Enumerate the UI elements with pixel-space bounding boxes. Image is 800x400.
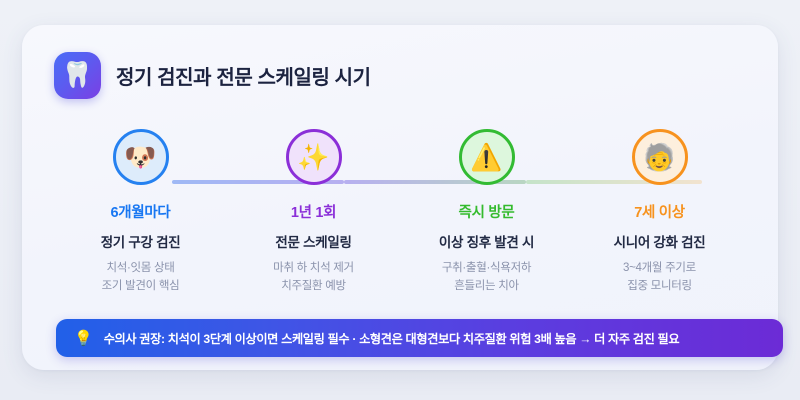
node-title: 시니어 강화 검진 — [614, 231, 706, 251]
sparkles-icon: ✨ — [286, 129, 342, 185]
node-title: 정기 구강 검진 — [101, 231, 181, 251]
node-desc: 치석·잇몸 상태 조기 발견이 핵심 — [102, 259, 180, 295]
card-header: 🦷 정기 검진과 전문 스케일링 시기 — [54, 52, 371, 99]
node-period: 즉시 방문 — [459, 201, 515, 222]
warning-icon: ⚠️ — [459, 129, 515, 185]
page-title: 정기 검진과 전문 스케일링 시기 — [116, 61, 371, 90]
timeline-nodes: 🐶 6개월마다 정기 구강 검진 치석·잇몸 상태 조기 발견이 핵심 ✨ 1년… — [54, 129, 746, 295]
node-period: 1년 1회 — [291, 201, 336, 222]
node-title: 이상 징후 발견 시 — [439, 231, 534, 251]
lightbulb-icon: 💡 — [74, 331, 93, 346]
node-desc: 마취 하 치석 제거 치주질환 예방 — [273, 259, 354, 295]
timeline-node-senior-intensive[interactable]: 🧓 7세 이상 시니어 강화 검진 3~4개월 주기로 집중 모니터링 — [573, 129, 746, 295]
node-desc-line2: 집중 모니터링 — [623, 277, 696, 295]
node-desc: 3~4개월 주기로 집중 모니터링 — [623, 259, 696, 295]
node-period: 6개월마다 — [111, 201, 171, 222]
node-desc-line1: 마취 하 치석 제거 — [273, 259, 354, 277]
node-desc-line2: 흔들리는 치아 — [442, 277, 531, 295]
node-desc-line1: 3~4개월 주기로 — [623, 259, 696, 277]
timeline-node-routine-checkup[interactable]: 🐶 6개월마다 정기 구강 검진 치석·잇몸 상태 조기 발견이 핵심 — [54, 129, 227, 295]
tooth-icon: 🦷 — [54, 52, 101, 99]
recommendation-banner: 💡 수의사 권장: 치석이 3단계 이상이면 스케일링 필수 · 소형견은 대형… — [56, 319, 783, 357]
node-desc-line2: 조기 발견이 핵심 — [102, 277, 180, 295]
node-desc: 구취·출혈·식욕저하 흔들리는 치아 — [442, 259, 531, 295]
info-card: 🦷 정기 검진과 전문 스케일링 시기 🐶 6개월마다 정기 구강 검진 치석·… — [22, 25, 778, 370]
older-person-icon: 🧓 — [632, 129, 688, 185]
timeline-node-professional-scaling[interactable]: ✨ 1년 1회 전문 스케일링 마취 하 치석 제거 치주질환 예방 — [227, 129, 400, 295]
node-period: 7세 이상 — [634, 201, 685, 222]
checkup-timeline: 🐶 6개월마다 정기 구강 검진 치석·잇몸 상태 조기 발견이 핵심 ✨ 1년… — [54, 129, 746, 299]
node-desc-line2: 치주질환 예방 — [273, 277, 354, 295]
node-desc-line1: 구취·출혈·식욕저하 — [442, 259, 531, 277]
recommendation-text: 수의사 권장: 치석이 3단계 이상이면 스케일링 필수 · 소형견은 대형견보… — [104, 329, 680, 347]
dog-face-icon: 🐶 — [113, 129, 169, 185]
node-desc-line1: 치석·잇몸 상태 — [102, 259, 180, 277]
node-title: 전문 스케일링 — [275, 231, 351, 251]
timeline-node-immediate-visit[interactable]: ⚠️ 즉시 방문 이상 징후 발견 시 구취·출혈·식욕저하 흔들리는 치아 — [400, 129, 573, 295]
